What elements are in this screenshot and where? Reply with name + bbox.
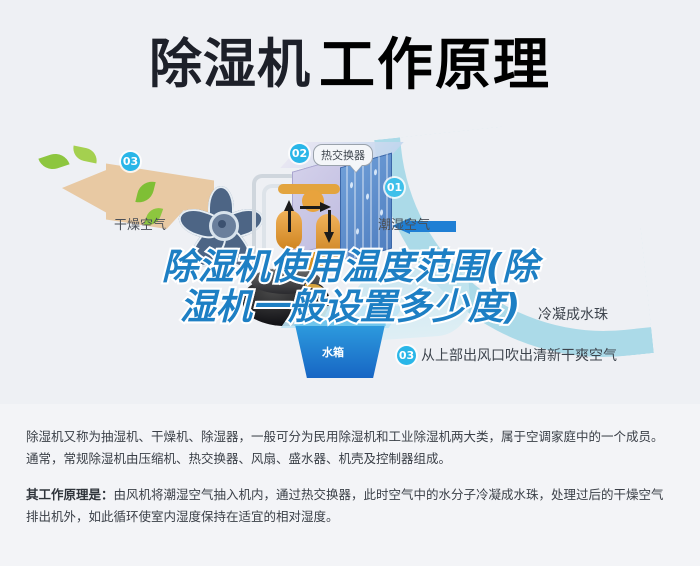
article-paragraph-2-text: 由风机将潮湿空气抽入机内，通过热交换器，此时空气中的水分子冷凝成水珠，处理过后的… <box>26 488 664 524</box>
label-moist-air: 潮湿空气 <box>378 214 430 233</box>
flow-arrow-down-icon <box>324 232 334 243</box>
page-title-part2: 工作原理 <box>319 20 551 101</box>
watermark-line-1: 除湿机使用温度范围(除 <box>0 248 700 288</box>
watermark-title: 除湿机使用温度范围(除 湿机一般设置多少度) <box>0 248 700 327</box>
badge-03-outlet: 03 <box>397 346 416 365</box>
badge-02-heat-exchanger: 02 <box>290 144 309 163</box>
flow-arrow-up-icon <box>284 200 294 211</box>
article-paragraph-2-label: 其工作原理是： <box>26 488 114 502</box>
water-tank-label: 水箱 <box>322 344 344 360</box>
fan-hub-icon <box>209 211 239 241</box>
leaf-icon <box>71 145 99 163</box>
page-title: 除湿机 工作原理 <box>0 20 700 100</box>
article-body: 除湿机又称为抽湿机、干燥机、除湿器，一般可分为民用除湿机和工业除湿机两大类，属于… <box>0 404 700 566</box>
flow-arrow-stem <box>328 210 331 232</box>
page-title-part1: 除湿机 <box>149 22 311 98</box>
article-paragraph-2: 其工作原理是：由风机将潮湿空气抽入机内，通过热交换器，此时空气中的水分子冷凝成水… <box>26 484 674 528</box>
badge-01-moist-air: 01 <box>385 178 404 197</box>
flow-arrow-right-icon <box>320 202 331 212</box>
flow-arrow-stem <box>300 206 320 209</box>
flow-arrow-stem <box>288 210 291 232</box>
article-paragraph-1: 除湿机又称为抽湿机、干燥机、除湿器，一般可分为民用除湿机和工业除湿机两大类，属于… <box>26 426 674 470</box>
caption-outlet: 从上部出风口吹出清新干爽空气 <box>421 345 617 365</box>
badge-03-dry-air: 03 <box>121 152 140 171</box>
page-root: 除湿机 工作原理 <box>0 0 700 566</box>
label-dry-air: 干燥空气 <box>114 214 166 233</box>
label-heat-exchanger: 热交换器 <box>313 144 373 166</box>
watermark-line-2: 湿机一般设置多少度) <box>0 288 700 328</box>
